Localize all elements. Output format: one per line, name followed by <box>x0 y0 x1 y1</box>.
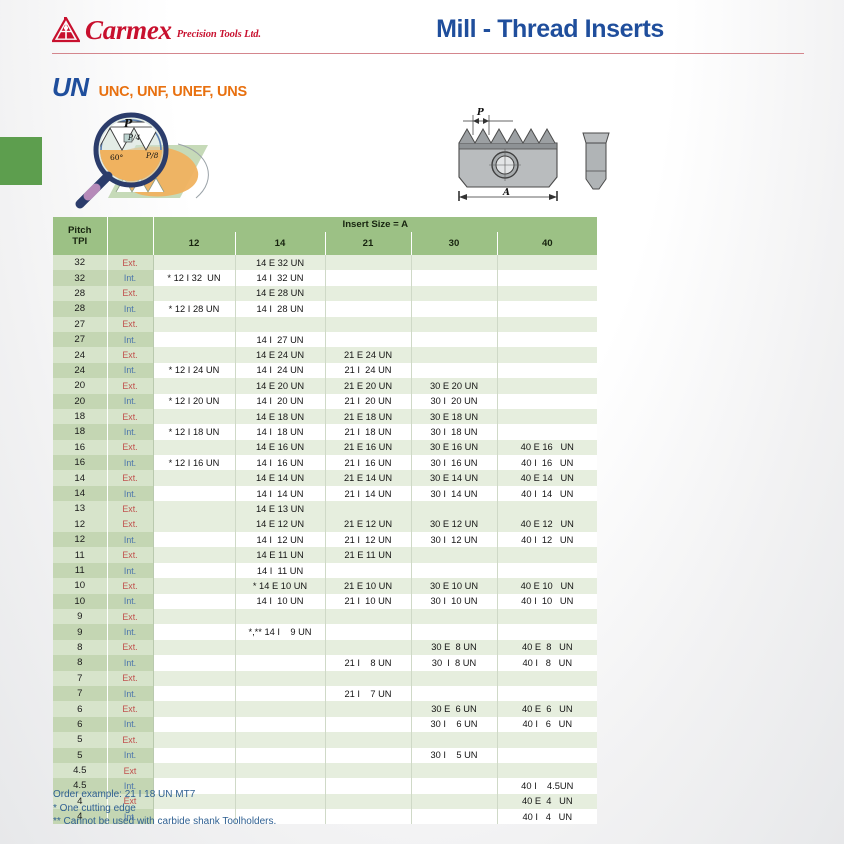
cell-insert-40 <box>497 270 597 285</box>
cell-insert-12 <box>153 317 235 332</box>
cell-insert-12 <box>153 501 235 516</box>
cell-insert-14: 14 I 24 UN <box>235 363 325 378</box>
cell-insert-21 <box>325 778 411 793</box>
cell-insert-14: 14 I 28 UN <box>235 301 325 316</box>
cell-insert-40 <box>497 255 597 270</box>
table-row: 20Int.* 12 I 20 UN14 I 20 UN21 I 20 UN30… <box>53 394 597 409</box>
cell-insert-21: 21 I 20 UN <box>325 394 411 409</box>
cell-insert-30: 30 I 16 UN <box>411 455 497 470</box>
cell-type: Int. <box>107 748 153 763</box>
cell-insert-40 <box>497 748 597 763</box>
magnifier-thread-profile-diagram-icon: P P/4 P/8 60° <box>58 100 258 210</box>
cell-tpi: 4.5 <box>53 763 107 778</box>
cell-tpi: 28 <box>53 301 107 316</box>
cell-type: Ext. <box>107 347 153 362</box>
cell-insert-14: 14 E 16 UN <box>235 440 325 455</box>
insert-dimension-diagram-icon: P A <box>443 105 618 205</box>
cell-insert-14: 14 I 11 UN <box>235 563 325 578</box>
table-row: 11Ext.14 E 11 UN21 E 11 UN <box>53 547 597 562</box>
cell-type: Ext. <box>107 609 153 624</box>
cell-insert-14: 14 I 27 UN <box>235 332 325 347</box>
cell-insert-14 <box>235 317 325 332</box>
table-row: 28Int.* 12 I 28 UN14 I 28 UN <box>53 301 597 316</box>
cell-insert-40: 40 I 6 UN <box>497 717 597 732</box>
cell-insert-30: 30 E 10 UN <box>411 578 497 593</box>
cell-insert-12 <box>153 594 235 609</box>
cell-type: Int. <box>107 486 153 501</box>
cell-tpi: 18 <box>53 424 107 439</box>
cell-insert-14: 14 I 20 UN <box>235 394 325 409</box>
cell-insert-21: 21 E 20 UN <box>325 378 411 393</box>
cell-type: Ext. <box>107 470 153 485</box>
cell-insert-40 <box>497 732 597 747</box>
cell-insert-21: 21 E 14 UN <box>325 470 411 485</box>
cell-insert-12 <box>153 517 235 532</box>
table-row: 28Ext.14 E 28 UN <box>53 286 597 301</box>
cell-insert-21 <box>325 332 411 347</box>
cell-insert-30 <box>411 301 497 316</box>
cell-insert-12 <box>153 486 235 501</box>
cell-insert-30 <box>411 732 497 747</box>
cell-insert-40 <box>497 501 597 516</box>
cell-insert-12 <box>153 563 235 578</box>
cell-insert-12 <box>153 609 235 624</box>
page-header: Carmex Precision Tools Ltd. Mill - Threa… <box>0 0 844 60</box>
cell-type: Int. <box>107 594 153 609</box>
page-title: Mill - Thread Inserts <box>340 15 760 44</box>
header-size-40: 40 <box>497 232 597 255</box>
cell-insert-12 <box>153 578 235 593</box>
cell-insert-30: 30 E 6 UN <box>411 701 497 716</box>
cell-insert-14: 14 E 24 UN <box>235 347 325 362</box>
header-pitch-line1: Pitch <box>53 225 107 236</box>
table-row: 32Int.* 12 I 32 UN14 I 32 UN <box>53 270 597 285</box>
table-row: 5Int.30 I 5 UN <box>53 748 597 763</box>
cell-insert-21: 21 E 10 UN <box>325 578 411 593</box>
carmex-triangle-logo-icon <box>52 17 80 43</box>
header-size-12: 12 <box>153 232 235 255</box>
cell-insert-12 <box>153 255 235 270</box>
header-size-14: 14 <box>235 232 325 255</box>
table-row: 32Ext.14 E 32 UN <box>53 255 597 270</box>
cell-insert-14: *,** 14 I 9 UN <box>235 624 325 639</box>
cell-insert-14: 14 E 12 UN <box>235 517 325 532</box>
cell-insert-30 <box>411 547 497 562</box>
cell-insert-40 <box>497 547 597 562</box>
cell-insert-12 <box>153 440 235 455</box>
cell-insert-21 <box>325 640 411 655</box>
cell-insert-21 <box>325 748 411 763</box>
cell-insert-30 <box>411 778 497 793</box>
insert-size-table: Pitch TPI Insert Size = A 12 14 21 30 40… <box>53 217 597 824</box>
cell-type: Int. <box>107 563 153 578</box>
cell-tpi: 27 <box>53 317 107 332</box>
cell-insert-40: 40 E 10 UN <box>497 578 597 593</box>
cell-insert-12: * 12 I 20 UN <box>153 394 235 409</box>
cell-insert-14: 14 E 28 UN <box>235 286 325 301</box>
cell-insert-40 <box>497 686 597 701</box>
table-header-row-top: Pitch TPI Insert Size = A <box>53 217 597 232</box>
cell-type: Ext. <box>107 378 153 393</box>
cell-insert-30 <box>411 563 497 578</box>
cell-insert-21: 21 I 24 UN <box>325 363 411 378</box>
cell-tpi: 10 <box>53 578 107 593</box>
cell-tpi: 18 <box>53 409 107 424</box>
cell-insert-21 <box>325 701 411 716</box>
cell-insert-12: * 12 I 32 UN <box>153 270 235 285</box>
cell-insert-12 <box>153 624 235 639</box>
cell-insert-14 <box>235 686 325 701</box>
table-row: 24Ext.14 E 24 UN21 E 24 UN <box>53 347 597 362</box>
cell-insert-21 <box>325 717 411 732</box>
table-header: Pitch TPI Insert Size = A 12 14 21 30 40 <box>53 217 597 255</box>
footnote-carbide-shank: ** Cannot be used with carbide shank Too… <box>53 815 276 829</box>
cell-insert-12 <box>153 732 235 747</box>
cell-insert-21: 21 I 10 UN <box>325 594 411 609</box>
svg-text:A: A <box>502 188 510 198</box>
table-row: 14Ext.14 E 14 UN21 E 14 UN30 E 14 UN40 E… <box>53 470 597 485</box>
table-row: 9Int.*,** 14 I 9 UN <box>53 624 597 639</box>
cell-insert-30: 30 I 6 UN <box>411 717 497 732</box>
cell-insert-14 <box>235 655 325 670</box>
cell-tpi: 27 <box>53 332 107 347</box>
cell-insert-40: 40 I 8 UN <box>497 655 597 670</box>
cell-insert-30: 30 E 8 UN <box>411 640 497 655</box>
table-row: 10Int.14 I 10 UN21 I 10 UN30 I 10 UN40 I… <box>53 594 597 609</box>
cell-insert-14: 14 I 16 UN <box>235 455 325 470</box>
cell-tpi: 5 <box>53 732 107 747</box>
cell-insert-12 <box>153 286 235 301</box>
table-body: 32Ext.14 E 32 UN32Int.* 12 I 32 UN14 I 3… <box>53 255 597 824</box>
cell-insert-12 <box>153 532 235 547</box>
cell-insert-14: 14 E 32 UN <box>235 255 325 270</box>
cell-insert-21 <box>325 501 411 516</box>
cell-insert-30 <box>411 332 497 347</box>
cell-insert-40: 40 I 10 UN <box>497 594 597 609</box>
svg-text:P: P <box>476 108 484 118</box>
cell-insert-30 <box>411 255 497 270</box>
cell-insert-14 <box>235 763 325 778</box>
cell-insert-12 <box>153 332 235 347</box>
table-row: 10Ext.* 14 E 10 UN21 E 10 UN30 E 10 UN40… <box>53 578 597 593</box>
cell-insert-30: 30 I 14 UN <box>411 486 497 501</box>
cell-type: Int. <box>107 624 153 639</box>
cell-insert-14 <box>235 609 325 624</box>
cell-insert-40 <box>497 347 597 362</box>
table-row: 12Ext.14 E 12 UN21 E 12 UN30 E 12 UN40 E… <box>53 517 597 532</box>
table-row: 13Ext.14 E 13 UN <box>53 501 597 516</box>
cell-insert-14 <box>235 671 325 686</box>
table-row: 7Int.21 I 7 UN <box>53 686 597 701</box>
cell-insert-40 <box>497 409 597 424</box>
svg-text:P/8: P/8 <box>145 151 159 160</box>
cell-insert-21: 21 I 14 UN <box>325 486 411 501</box>
cell-insert-12 <box>153 655 235 670</box>
cell-type: Int. <box>107 455 153 470</box>
cell-tpi: 11 <box>53 547 107 562</box>
cell-tpi: 28 <box>53 286 107 301</box>
cell-type: Ext. <box>107 286 153 301</box>
cell-insert-40: 40 I 16 UN <box>497 455 597 470</box>
cell-insert-21: 21 E 24 UN <box>325 347 411 362</box>
table-row: 24Int.* 12 I 24 UN14 I 24 UN21 I 24 UN <box>53 363 597 378</box>
cell-insert-21: 21 E 16 UN <box>325 440 411 455</box>
cell-tpi: 32 <box>53 270 107 285</box>
footnote-one-cutting-edge: * One cutting edge <box>53 802 276 816</box>
cell-tpi: 24 <box>53 363 107 378</box>
cell-insert-14 <box>235 701 325 716</box>
svg-text:P: P <box>123 117 133 130</box>
cell-insert-21 <box>325 270 411 285</box>
cell-insert-21 <box>325 732 411 747</box>
cell-insert-40: 40 E 6 UN <box>497 701 597 716</box>
section-color-tab <box>0 137 42 185</box>
cell-tpi: 14 <box>53 486 107 501</box>
cell-type: Ext. <box>107 440 153 455</box>
cell-type: Int. <box>107 686 153 701</box>
cell-insert-14 <box>235 717 325 732</box>
cell-insert-40: 40 I 12 UN <box>497 532 597 547</box>
standard-code: UN <box>52 72 89 103</box>
cell-insert-21 <box>325 609 411 624</box>
cell-insert-40: 40 I 4 UN <box>497 809 597 824</box>
cell-insert-21 <box>325 563 411 578</box>
cell-insert-30: 30 I 10 UN <box>411 594 497 609</box>
cell-insert-40: 40 I 14 UN <box>497 486 597 501</box>
cell-insert-12 <box>153 671 235 686</box>
table-row: 18Int.* 12 I 18 UN14 I 18 UN21 I 18 UN30… <box>53 424 597 439</box>
cell-insert-30: 30 E 20 UN <box>411 378 497 393</box>
table-row: 16Ext.14 E 16 UN21 E 16 UN30 E 16 UN40 E… <box>53 440 597 455</box>
cell-insert-40: 40 E 16 UN <box>497 440 597 455</box>
cell-insert-30 <box>411 347 497 362</box>
cell-insert-21: 21 I 16 UN <box>325 455 411 470</box>
table-row: 18Ext.14 E 18 UN21 E 18 UN30 E 18 UN <box>53 409 597 424</box>
cell-tpi: 13 <box>53 501 107 516</box>
cell-insert-21: 21 I 7 UN <box>325 686 411 701</box>
cell-insert-40 <box>497 301 597 316</box>
cell-tpi: 8 <box>53 655 107 670</box>
cell-insert-21 <box>325 794 411 809</box>
table-row: 6Ext.30 E 6 UN40 E 6 UN <box>53 701 597 716</box>
cell-insert-12 <box>153 748 235 763</box>
header-type <box>107 217 153 255</box>
cell-insert-21 <box>325 286 411 301</box>
cell-insert-30 <box>411 317 497 332</box>
cell-insert-14: 14 I 18 UN <box>235 424 325 439</box>
table-row: 27Ext. <box>53 317 597 332</box>
cell-insert-14: 14 E 11 UN <box>235 547 325 562</box>
table-row: 14Int.14 I 14 UN21 I 14 UN30 I 14 UN40 I… <box>53 486 597 501</box>
cell-insert-40 <box>497 378 597 393</box>
cell-insert-40 <box>497 332 597 347</box>
cell-tpi: 9 <box>53 624 107 639</box>
cell-insert-21 <box>325 763 411 778</box>
cell-tpi: 6 <box>53 717 107 732</box>
cell-tpi: 6 <box>53 701 107 716</box>
cell-insert-30 <box>411 609 497 624</box>
cell-tpi: 9 <box>53 609 107 624</box>
cell-insert-30 <box>411 270 497 285</box>
cell-insert-12 <box>153 686 235 701</box>
cell-insert-14: 14 E 13 UN <box>235 501 325 516</box>
cell-insert-30: 30 I 8 UN <box>411 655 497 670</box>
footer-notes: Order example: 21 I 18 UN MT7 * One cutt… <box>53 788 276 829</box>
cell-insert-30: 30 I 5 UN <box>411 748 497 763</box>
cell-tpi: 5 <box>53 748 107 763</box>
cell-type: Ext. <box>107 517 153 532</box>
cell-insert-14: 14 I 10 UN <box>235 594 325 609</box>
cell-insert-14: * 14 E 10 UN <box>235 578 325 593</box>
header-pitch-line2: TPI <box>53 236 107 247</box>
cell-insert-40 <box>497 363 597 378</box>
svg-text:60°: 60° <box>110 153 124 162</box>
cell-tpi: 20 <box>53 394 107 409</box>
cell-insert-14: 14 E 14 UN <box>235 470 325 485</box>
cell-insert-40 <box>497 671 597 686</box>
cell-type: Int. <box>107 424 153 439</box>
cell-type: Ext. <box>107 640 153 655</box>
cell-insert-21 <box>325 809 411 824</box>
cell-insert-30 <box>411 286 497 301</box>
cell-insert-30: 30 I 12 UN <box>411 532 497 547</box>
order-example-note: Order example: 21 I 18 UN MT7 <box>53 788 276 802</box>
cell-type: Int. <box>107 270 153 285</box>
cell-tpi: 8 <box>53 640 107 655</box>
cell-insert-12: * 12 I 16 UN <box>153 455 235 470</box>
standard-variants: UNC, UNF, UNEF, UNS <box>99 84 247 100</box>
brand-logo: Carmex Precision Tools Ltd. <box>52 17 261 43</box>
cell-insert-12 <box>153 547 235 562</box>
cell-insert-40 <box>497 609 597 624</box>
table-row: 9Ext. <box>53 609 597 624</box>
brand-tagline: Precision Tools Ltd. <box>177 26 261 43</box>
header-size-30: 30 <box>411 232 497 255</box>
cell-type: Int. <box>107 655 153 670</box>
cell-insert-12 <box>153 763 235 778</box>
cell-tpi: 16 <box>53 455 107 470</box>
header-divider <box>52 53 804 54</box>
cell-insert-30 <box>411 809 497 824</box>
cell-insert-40 <box>497 624 597 639</box>
brand-name: Carmex <box>85 17 172 43</box>
cell-insert-12 <box>153 378 235 393</box>
cell-type: Ext. <box>107 501 153 516</box>
cell-insert-40: 40 E 14 UN <box>497 470 597 485</box>
cell-type: Ext. <box>107 671 153 686</box>
cell-insert-12: * 12 I 28 UN <box>153 301 235 316</box>
cell-insert-12 <box>153 717 235 732</box>
cell-insert-40: 40 I 4.5UN <box>497 778 597 793</box>
cell-insert-30: 30 I 20 UN <box>411 394 497 409</box>
cell-insert-40 <box>497 563 597 578</box>
header-size-21: 21 <box>325 232 411 255</box>
table-row: 7Ext. <box>53 671 597 686</box>
cell-insert-30 <box>411 763 497 778</box>
cell-insert-21: 21 I 12 UN <box>325 532 411 547</box>
cell-tpi: 12 <box>53 532 107 547</box>
cell-tpi: 16 <box>53 440 107 455</box>
cell-tpi: 12 <box>53 517 107 532</box>
cell-type: Int. <box>107 332 153 347</box>
cell-tpi: 7 <box>53 686 107 701</box>
cell-insert-40 <box>497 394 597 409</box>
cell-insert-30: 30 E 16 UN <box>411 440 497 455</box>
cell-type: Ext. <box>107 317 153 332</box>
cell-insert-40 <box>497 317 597 332</box>
cell-type: Ext. <box>107 409 153 424</box>
cell-insert-40 <box>497 763 597 778</box>
cell-insert-40: 40 E 8 UN <box>497 640 597 655</box>
table-row: 8Int.21 I 8 UN30 I 8 UN40 I 8 UN <box>53 655 597 670</box>
cell-type: Int. <box>107 363 153 378</box>
cell-insert-21: 21 I 18 UN <box>325 424 411 439</box>
cell-type: Int. <box>107 394 153 409</box>
table-row: 16Int.* 12 I 16 UN14 I 16 UN21 I 16 UN30… <box>53 455 597 470</box>
cell-tpi: 14 <box>53 470 107 485</box>
cell-insert-30: 30 I 18 UN <box>411 424 497 439</box>
cell-insert-30: 30 E 18 UN <box>411 409 497 424</box>
cell-insert-30 <box>411 363 497 378</box>
cell-insert-14 <box>235 748 325 763</box>
table-row: 11Int.14 I 11 UN <box>53 563 597 578</box>
table-row: 5Ext. <box>53 732 597 747</box>
cell-insert-12 <box>153 701 235 716</box>
cell-tpi: 11 <box>53 563 107 578</box>
cell-insert-12: * 12 I 18 UN <box>153 424 235 439</box>
cell-insert-21 <box>325 671 411 686</box>
cell-type: Int. <box>107 301 153 316</box>
cell-insert-30 <box>411 624 497 639</box>
cell-insert-30: 30 E 12 UN <box>411 517 497 532</box>
table-row: 6Int.30 I 6 UN40 I 6 UN <box>53 717 597 732</box>
cell-type: Ext <box>107 763 153 778</box>
cell-insert-12 <box>153 347 235 362</box>
cell-insert-30: 30 E 14 UN <box>411 470 497 485</box>
cell-insert-21 <box>325 301 411 316</box>
cell-insert-12 <box>153 409 235 424</box>
cell-tpi: 10 <box>53 594 107 609</box>
table-row: 27Int.14 I 27 UN <box>53 332 597 347</box>
cell-insert-30 <box>411 686 497 701</box>
cell-type: Ext. <box>107 701 153 716</box>
svg-text:P/4: P/4 <box>127 133 141 142</box>
cell-insert-12: * 12 I 24 UN <box>153 363 235 378</box>
cell-type: Ext. <box>107 547 153 562</box>
cell-tpi: 7 <box>53 671 107 686</box>
cell-insert-40: 40 E 12 UN <box>497 517 597 532</box>
cell-insert-14 <box>235 640 325 655</box>
cell-insert-14: 14 E 20 UN <box>235 378 325 393</box>
cell-insert-40: 40 E 4 UN <box>497 794 597 809</box>
cell-type: Ext. <box>107 255 153 270</box>
cell-insert-12 <box>153 640 235 655</box>
cell-insert-21 <box>325 317 411 332</box>
cell-insert-40 <box>497 286 597 301</box>
cell-insert-21 <box>325 624 411 639</box>
cell-type: Ext. <box>107 578 153 593</box>
header-insert-size: Insert Size = A <box>153 217 597 232</box>
cell-type: Ext. <box>107 732 153 747</box>
cell-tpi: 20 <box>53 378 107 393</box>
header-pitch-tpi: Pitch TPI <box>53 217 107 255</box>
cell-insert-21 <box>325 255 411 270</box>
table-row: 12Int.14 I 12 UN21 I 12 UN30 I 12 UN40 I… <box>53 532 597 547</box>
cell-tpi: 32 <box>53 255 107 270</box>
cell-insert-21: 21 I 8 UN <box>325 655 411 670</box>
cell-insert-14: 14 I 12 UN <box>235 532 325 547</box>
standard-subtitle: UN UNC, UNF, UNEF, UNS <box>52 72 247 103</box>
